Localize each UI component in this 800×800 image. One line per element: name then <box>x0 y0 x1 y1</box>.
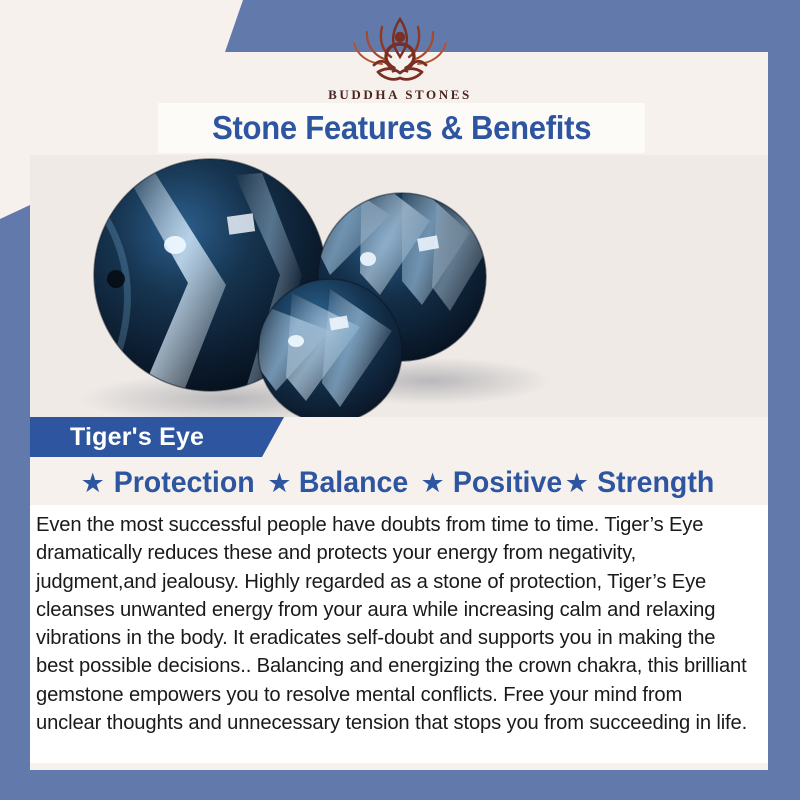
benefit-label: Balance <box>299 466 408 500</box>
frame-bottom-bar <box>0 770 800 800</box>
stone-name-tab: Tiger's Eye <box>30 417 284 457</box>
benefits-row: ★ Protection ★ Balance ★ Positive ★ Stre… <box>30 462 768 504</box>
stone-name-label: Tiger's Eye <box>30 423 204 452</box>
star-icon: ★ <box>421 470 445 497</box>
page-title: Stone Features & Benefits <box>212 109 591 147</box>
brand-name: BUDDHA STONES <box>0 87 800 103</box>
benefit-item-3: ★ Strength <box>565 466 718 500</box>
benefit-label: Positive <box>453 466 562 500</box>
tigers-eye-spheres-illustration <box>30 155 768 417</box>
star-icon: ★ <box>565 470 589 497</box>
stone-photo <box>30 155 768 417</box>
benefit-label: Protection <box>114 466 255 500</box>
frame-left-bar <box>0 205 30 800</box>
description-panel: Even the most successful people have dou… <box>30 505 768 763</box>
benefit-item-2: ★ Positive <box>421 466 565 500</box>
frame-right-bar <box>768 52 800 800</box>
benefit-label: Strength <box>597 466 714 500</box>
benefit-item-0: ★ Protection <box>81 466 259 500</box>
benefit-item-1: ★ Balance <box>267 466 411 500</box>
infographic-card: BUDDHA STONES Stone Features & Benefits <box>0 0 800 800</box>
lotus-meditation-icon <box>334 10 466 86</box>
star-icon: ★ <box>81 470 105 497</box>
title-banner: Stone Features & Benefits <box>158 103 645 153</box>
star-icon: ★ <box>267 470 291 497</box>
description-text: Even the most successful people have dou… <box>36 511 751 737</box>
brand-logo: BUDDHA STONES <box>0 10 800 103</box>
